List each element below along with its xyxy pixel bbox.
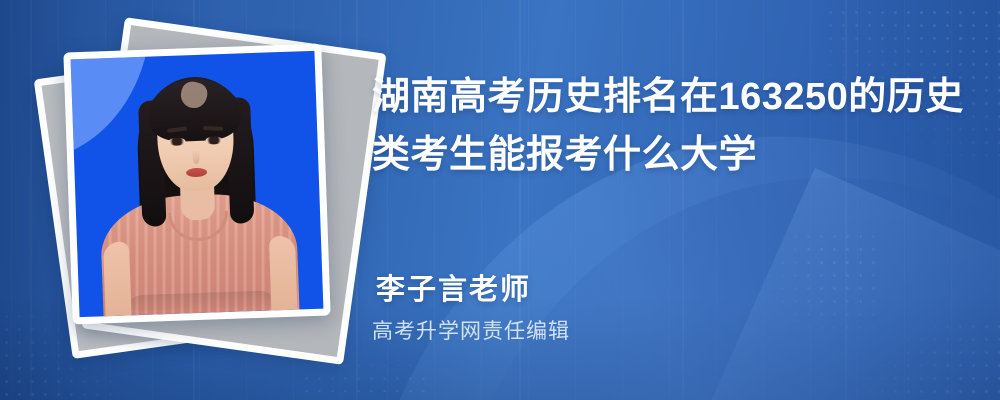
portrait-arm-left	[103, 241, 132, 316]
article-title: 湖南高考历史排名在163250的历史 类考生能报考什么大学	[372, 68, 972, 184]
article-title-line-2: 类考生能报考什么大学	[372, 126, 972, 184]
article-title-line-1: 湖南高考历史排名在163250的历史	[372, 68, 972, 126]
portrait-nose	[192, 150, 199, 164]
author-portrait-image	[71, 51, 324, 317]
cover-text-column: 湖南高考历史排名在163250的历史 类考生能报考什么大学 李子言老师 高考升学…	[372, 0, 972, 400]
portrait-arm-right	[269, 236, 298, 311]
photo-card-stack	[58, 26, 348, 356]
author-name: 李子言老师	[376, 266, 531, 308]
author-photo-frame	[63, 44, 330, 325]
author-role-label: 高考升学网责任编辑	[372, 315, 570, 345]
article-cover-banner: 湖南高考历史排名在163250的历史 类考生能报考什么大学 李子言老师 高考升学…	[0, 0, 1000, 400]
